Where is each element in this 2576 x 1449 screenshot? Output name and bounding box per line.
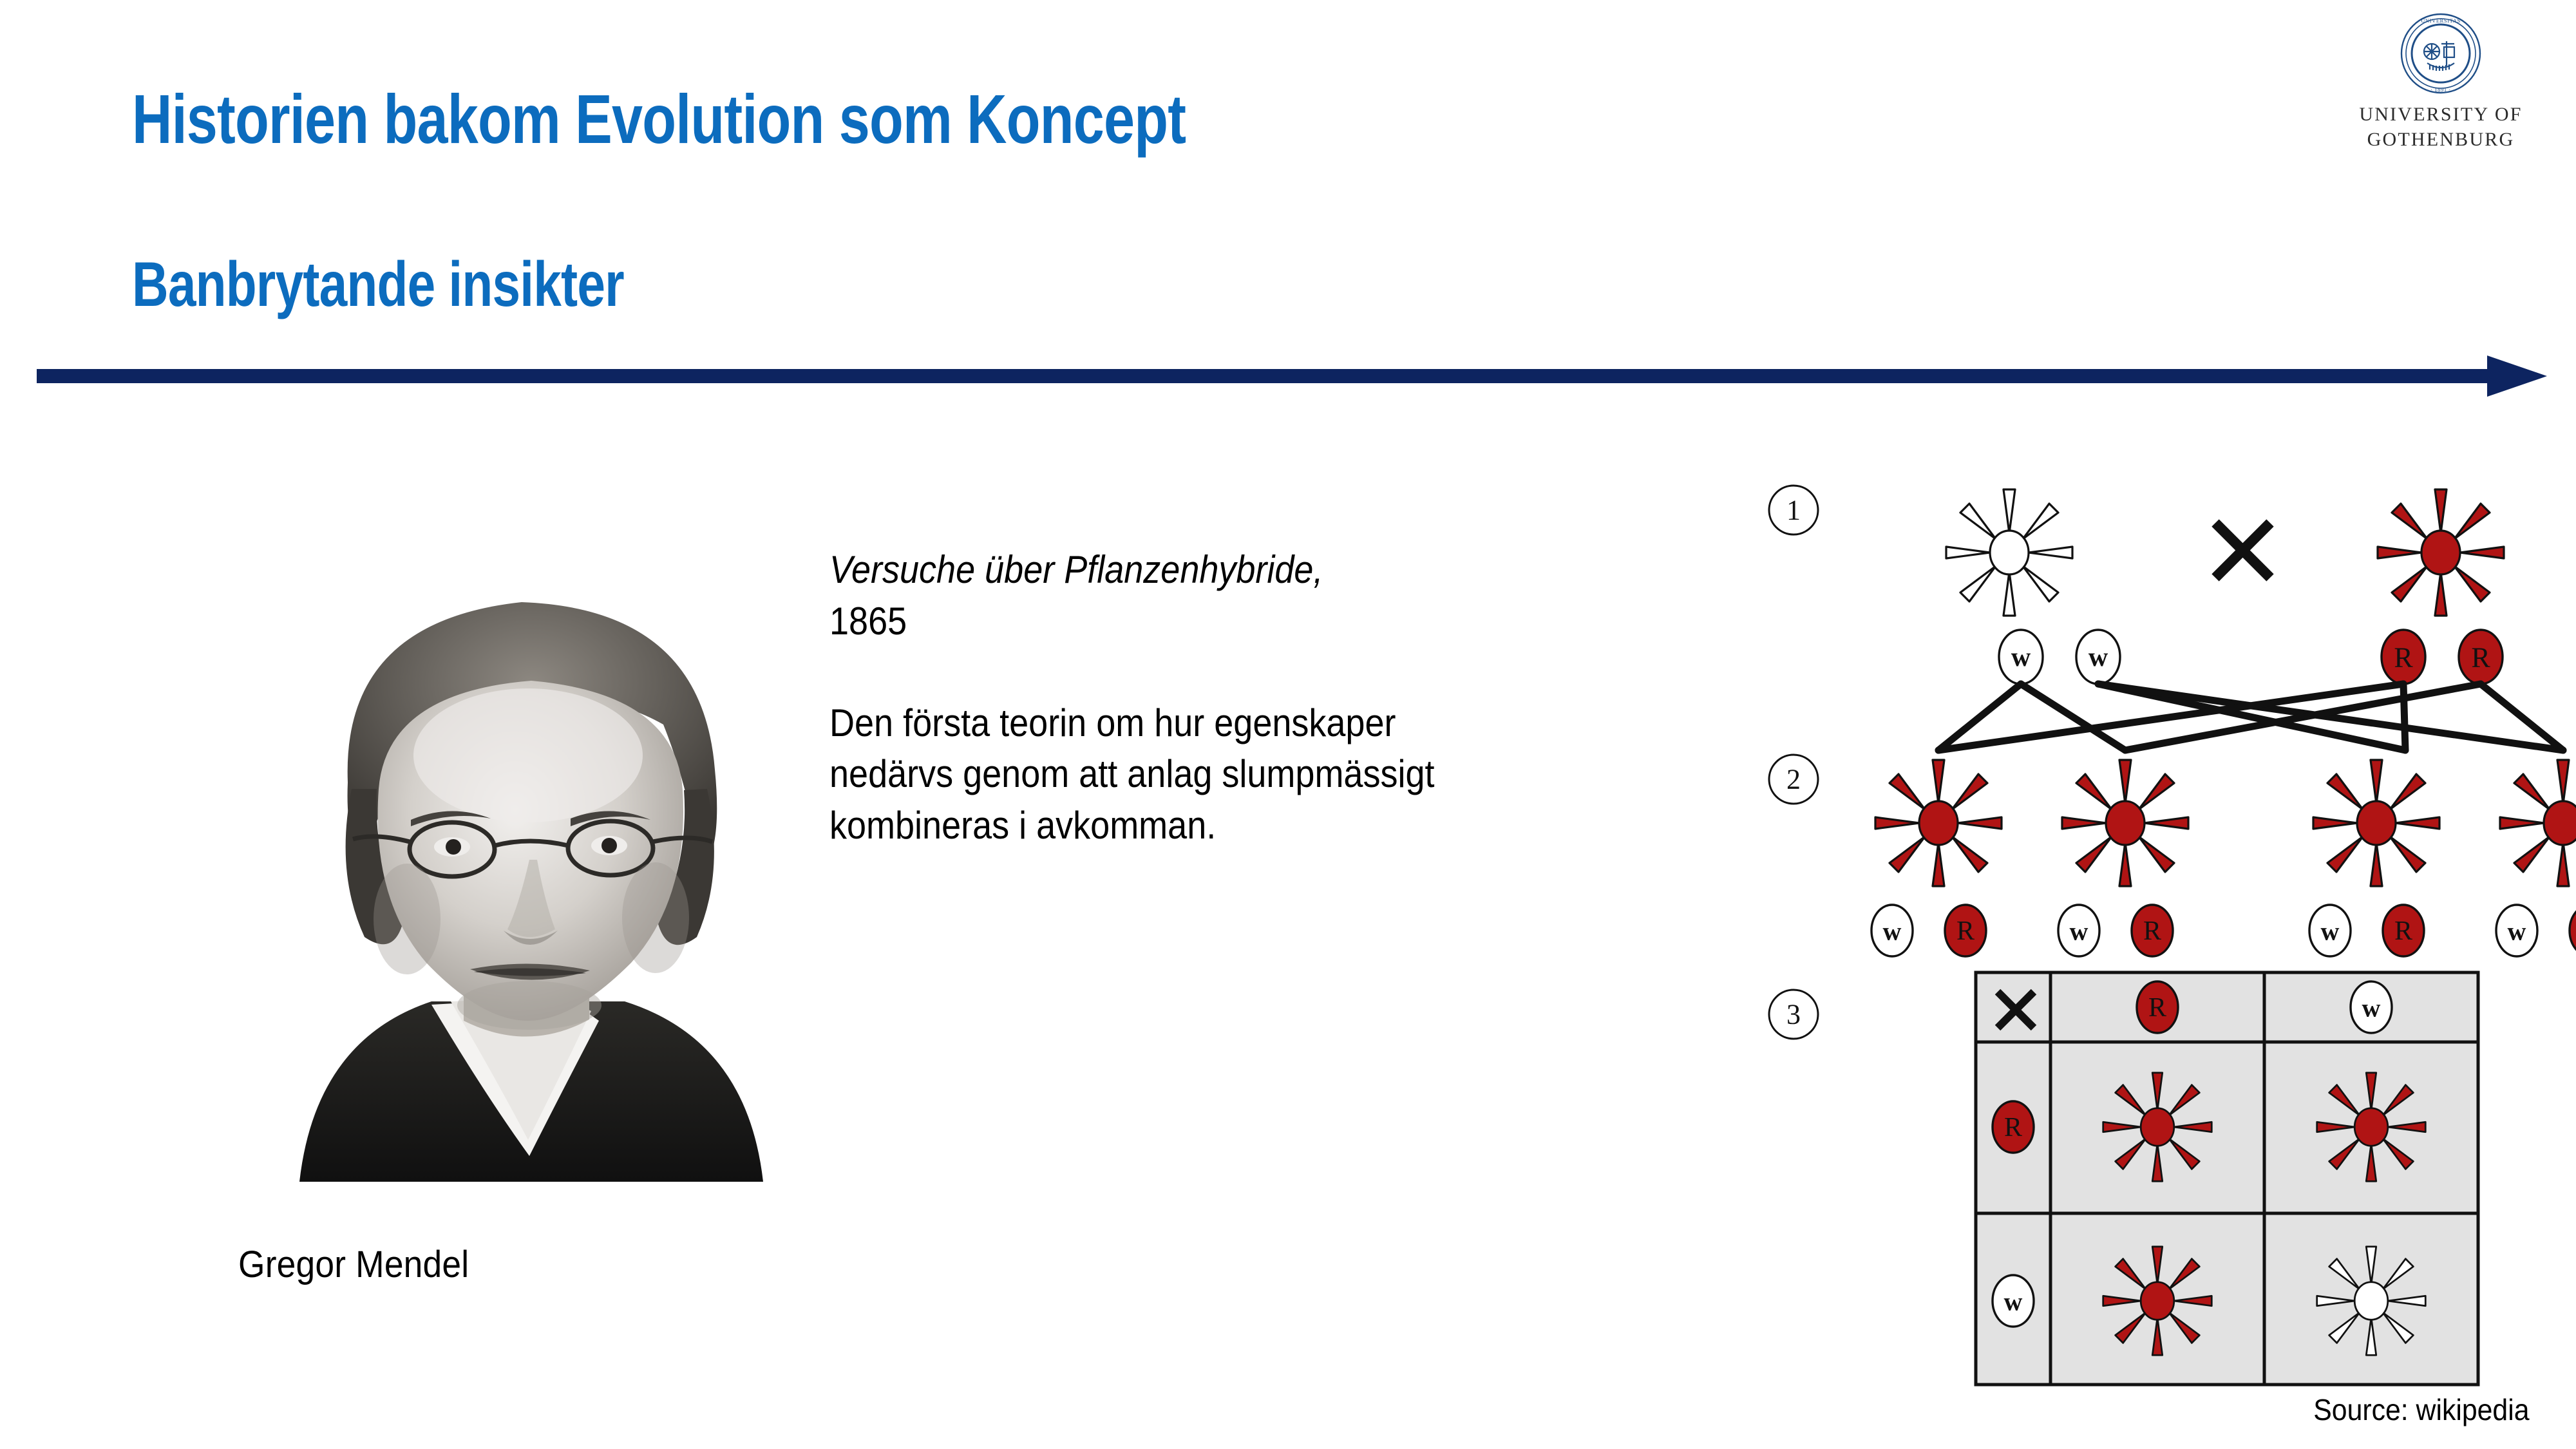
mendel-portrait-image — [238, 512, 818, 1182]
punnett-square: R w R w — [1976, 972, 2478, 1385]
svg-text:R: R — [1956, 916, 1975, 946]
svg-text:w: w — [1883, 917, 1902, 946]
svg-text:2: 2 — [1786, 764, 1801, 795]
step-marker-3: 3 — [1769, 990, 1818, 1039]
punnett-row-header-w: w — [1993, 1275, 2034, 1327]
paragraph-line-3: kombineras i avkomman. — [829, 800, 1583, 851]
generation-2-offspring-flower-4 — [2500, 760, 2576, 886]
generation-2-offspring-flower-1 — [1875, 760, 2002, 886]
page-subtitle: Banbrytande insikter — [132, 251, 1626, 318]
svg-text:R: R — [2471, 642, 2490, 674]
svg-text:w: w — [2011, 643, 2031, 672]
punnett-cell-r-r — [2103, 1073, 2212, 1182]
generation-2-offspring-flower-3 — [2313, 760, 2439, 886]
allele-r-offspring-4: R — [2570, 905, 2576, 956]
allele-r-parent-right-2: R — [2459, 630, 2503, 684]
step-marker-2: 2 — [1769, 755, 1818, 804]
punnett-row-header-r: R — [1993, 1101, 2034, 1153]
allele-r-parent-right-1: R — [2382, 630, 2425, 684]
generation-2-offspring-flower-2 — [2062, 760, 2188, 886]
logo-line-2: GOTHENBURG — [2344, 127, 2537, 152]
allele-r-offspring-3: R — [2383, 905, 2424, 956]
allele-r-offspring-1: R — [1945, 905, 1986, 956]
paragraph-spacer — [829, 647, 1667, 697]
university-logo-text: UNIVERSITY OF GOTHENBURG — [2344, 102, 2537, 152]
svg-text:w: w — [2070, 917, 2088, 946]
svg-text:· 1891 ·: · 1891 · — [2430, 86, 2451, 93]
svg-text:R: R — [2004, 1113, 2022, 1142]
mendel-inheritance-diagram: 1 2 3 w w R R — [1726, 451, 2576, 1391]
divider-arrow — [0, 348, 2576, 425]
publication-year: 1865 — [829, 596, 1583, 647]
allele-w-offspring-4: w — [2496, 905, 2537, 956]
cross-symbol-parents — [2215, 523, 2270, 578]
allele-r-offspring-2: R — [2132, 905, 2173, 956]
portrait-caption: Gregor Mendel — [238, 1243, 469, 1286]
punnett-cell-w-r — [2103, 1247, 2212, 1356]
step-marker-1: 1 — [1769, 486, 1818, 535]
svg-text:R: R — [2394, 642, 2413, 674]
punnett-col-header-w: w — [2351, 981, 2392, 1033]
punnett-col-header-r: R — [2137, 981, 2178, 1033]
allele-w-parent-left-2: w — [2076, 630, 2120, 684]
svg-text:R: R — [2394, 916, 2412, 946]
svg-text:w: w — [2088, 643, 2108, 672]
svg-text:w: w — [2321, 917, 2340, 946]
svg-text:w: w — [2362, 994, 2381, 1023]
allele-w-offspring-1: w — [1871, 905, 1913, 956]
allele-w-offspring-3: w — [2309, 905, 2351, 956]
punnett-cell-r-w — [2317, 1073, 2426, 1182]
source-note: Source: wikipedia — [2314, 1392, 2530, 1427]
allele-w-offspring-2: w — [2058, 905, 2099, 956]
svg-text:R: R — [2143, 916, 2161, 946]
logo-line-1: UNIVERSITY OF — [2344, 102, 2537, 127]
page-title: Historien bakom Evolution som Koncept — [132, 82, 1626, 156]
svg-text:3: 3 — [1786, 999, 1801, 1030]
svg-text:w: w — [2004, 1287, 2023, 1316]
allele-w-parent-left-1: w — [1999, 630, 2043, 684]
university-seal-icon: UNIVERSITAS · 1891 · — [2399, 12, 2483, 95]
generation-1-parent-white-flower — [1946, 489, 2072, 616]
paragraph-line-2: nedärvs genom att anlag slumpmässigt — [829, 748, 1583, 800]
generation-1-parent-red-flower — [2378, 489, 2504, 616]
paragraph-line-1: Den första teorin om hur egenskaper — [829, 697, 1583, 749]
punnett-cell-w-w — [2317, 1247, 2426, 1356]
svg-text:UNIVERSITAS: UNIVERSITAS — [2421, 17, 2461, 24]
svg-text:w: w — [2508, 917, 2526, 946]
inheritance-connectors — [1938, 684, 2563, 750]
publication-title: Versuche über Pflanzenhybride, — [829, 544, 1583, 596]
svg-text:1: 1 — [1786, 495, 1801, 526]
university-logo: UNIVERSITAS · 1891 · UNIVERSITY OF GOTHE… — [2344, 12, 2537, 152]
svg-text:R: R — [2148, 993, 2166, 1023]
body-text-column: Versuche über Pflanzenhybride, 1865 Den … — [829, 544, 1667, 851]
